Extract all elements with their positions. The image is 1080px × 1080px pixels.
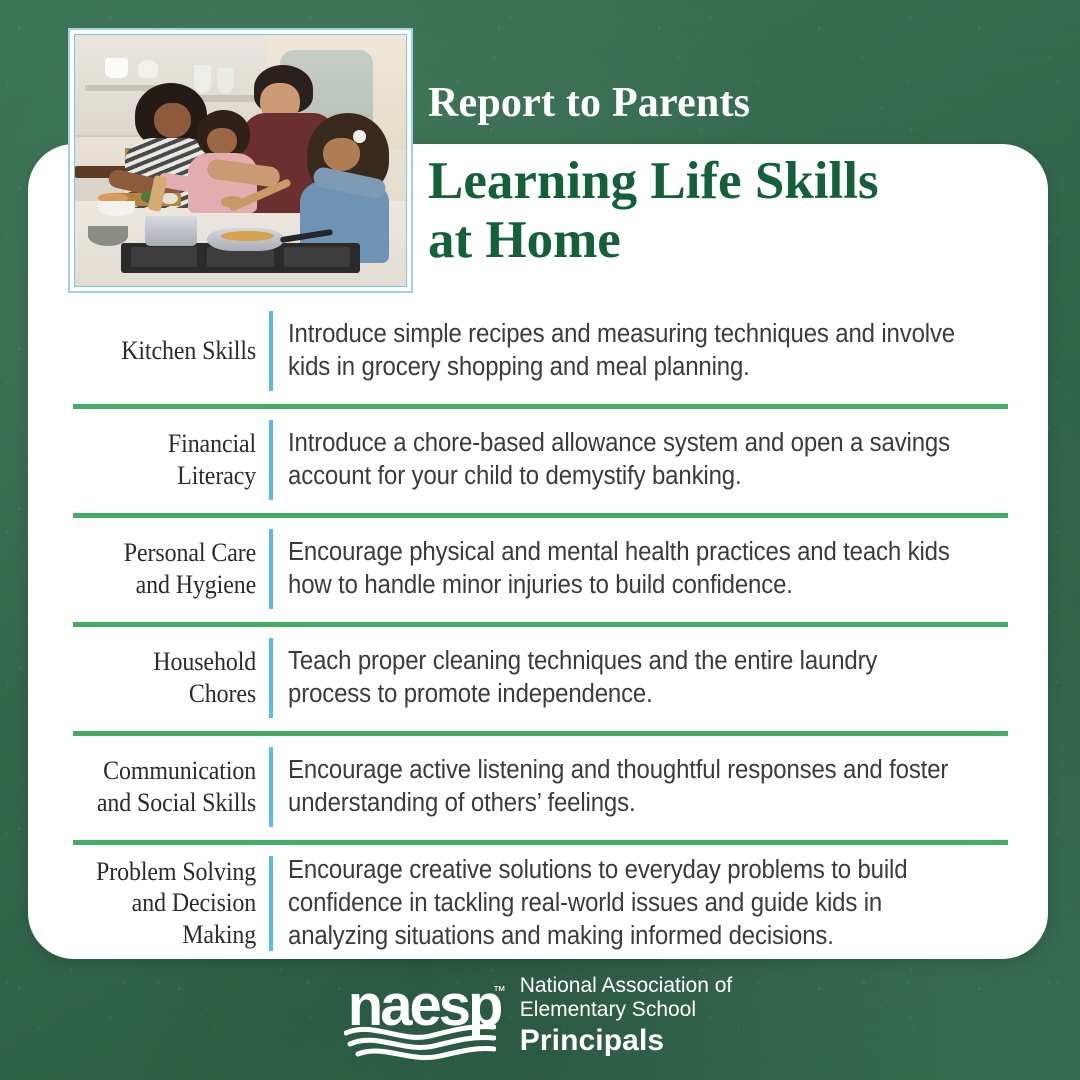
page-title-line-1: Learning Life Skills: [428, 152, 1008, 211]
row-description: Teach proper cleaning techniques and the…: [273, 645, 964, 711]
table-row: Financial Literacy Introduce a chore-bas…: [73, 409, 1008, 513]
photo-frame: [68, 28, 413, 293]
life-skills-table: Kitchen Skills Introduce simple recipes …: [73, 300, 1008, 964]
row-description: Encourage creative solutions to everyday…: [273, 854, 964, 953]
row-label: Communication and Social Skills: [89, 755, 269, 818]
family-cooking-photo: [74, 34, 407, 287]
naesp-full-name: National Association of Elementary Schoo…: [504, 974, 732, 1062]
table-row: Household Chores Teach proper cleaning t…: [73, 627, 1008, 731]
row-label: Financial Literacy: [89, 428, 269, 491]
row-label: Kitchen Skills: [89, 335, 269, 367]
page-title-line-2: at Home: [428, 211, 1008, 270]
trademark-symbol: ™: [493, 983, 506, 998]
naesp-name-line-2: Elementary School: [520, 998, 732, 1023]
table-row: Communication and Social Skills Encourag…: [73, 736, 1008, 840]
page-title: Learning Life Skills at Home: [428, 152, 1008, 271]
row-label: Household Chores: [89, 646, 269, 709]
row-description: Introduce a chore-based allowance system…: [273, 427, 964, 493]
row-description: Encourage active listening and thoughtfu…: [273, 754, 964, 820]
table-row: Personal Care and Hygiene Encourage phys…: [73, 518, 1008, 622]
row-description: Introduce simple recipes and measuring t…: [273, 318, 964, 384]
table-row: Kitchen Skills Introduce simple recipes …: [73, 300, 1008, 404]
row-label: Personal Care and Hygiene: [89, 537, 269, 600]
naesp-name-line-3: Principals: [520, 1023, 732, 1058]
report-to-parents-poster: Report to Parents Learning Life Skills a…: [0, 0, 1080, 1080]
kicker-report-to-parents: Report to Parents: [428, 79, 750, 127]
wave-icon: [344, 1023, 496, 1063]
row-label: Problem Solving and Decision Making: [89, 856, 269, 951]
naesp-logo: naesp ™ National Association of Elementa…: [0, 972, 1080, 1064]
row-description: Encourage physical and mental health pra…: [273, 536, 964, 602]
naesp-wordmark-mark: naesp ™: [348, 975, 498, 1061]
naesp-name-line-1: National Association of: [520, 974, 732, 999]
table-row: Problem Solving and Decision Making Enco…: [73, 845, 1008, 964]
